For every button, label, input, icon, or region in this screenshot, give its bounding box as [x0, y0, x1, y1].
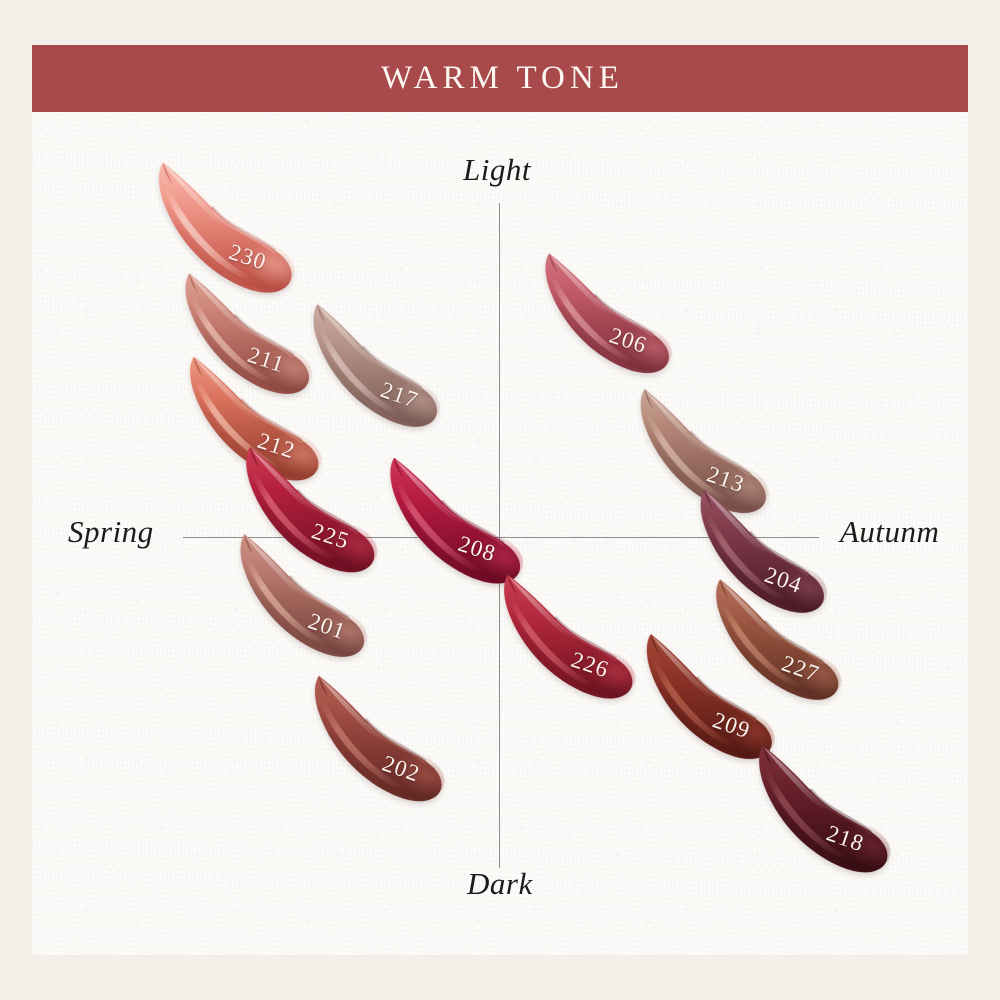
axis-label-spring: Spring — [68, 514, 154, 550]
shade-chart-poster: WARM TONE Light Dark Spring Autunm 23021… — [0, 0, 1000, 1000]
page-title: WARM TONE — [376, 62, 624, 95]
axis-label-light: Light — [463, 152, 531, 188]
axis-label-dark: Dark — [467, 866, 533, 902]
header-banner: WARM TONE — [32, 45, 968, 112]
axis-label-autumn: Autunm — [840, 514, 939, 550]
